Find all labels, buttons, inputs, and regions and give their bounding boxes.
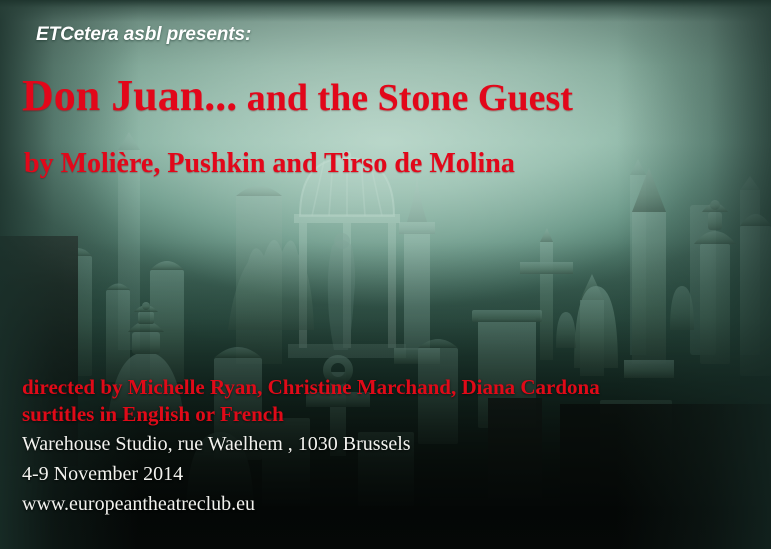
presenter-line: ETCetera asbl presents: [36,24,251,46]
website-line: www.europeantheatreclub.eu [22,489,600,519]
directors-line: directed by Michelle Ryan, Christine Mar… [22,374,600,401]
venue-line: Warehouse Studio, rue Waelhem , 1030 Bru… [22,429,600,459]
title-tail: and the Stone Guest [237,77,573,119]
surtitles-line: surtitles in English or French [22,401,600,428]
dates-line: 4-9 November 2014 [22,459,600,489]
poster: ETCetera asbl presents: Don Juan... and … [0,0,771,549]
title-lead: Don Juan... [22,71,237,120]
page-title: Don Juan... and the Stone Guest [22,74,573,118]
authors-line: by Molière, Pushkin and Tirso de Molina [24,148,515,180]
credits-block: directed by Michelle Ryan, Christine Mar… [22,374,600,519]
